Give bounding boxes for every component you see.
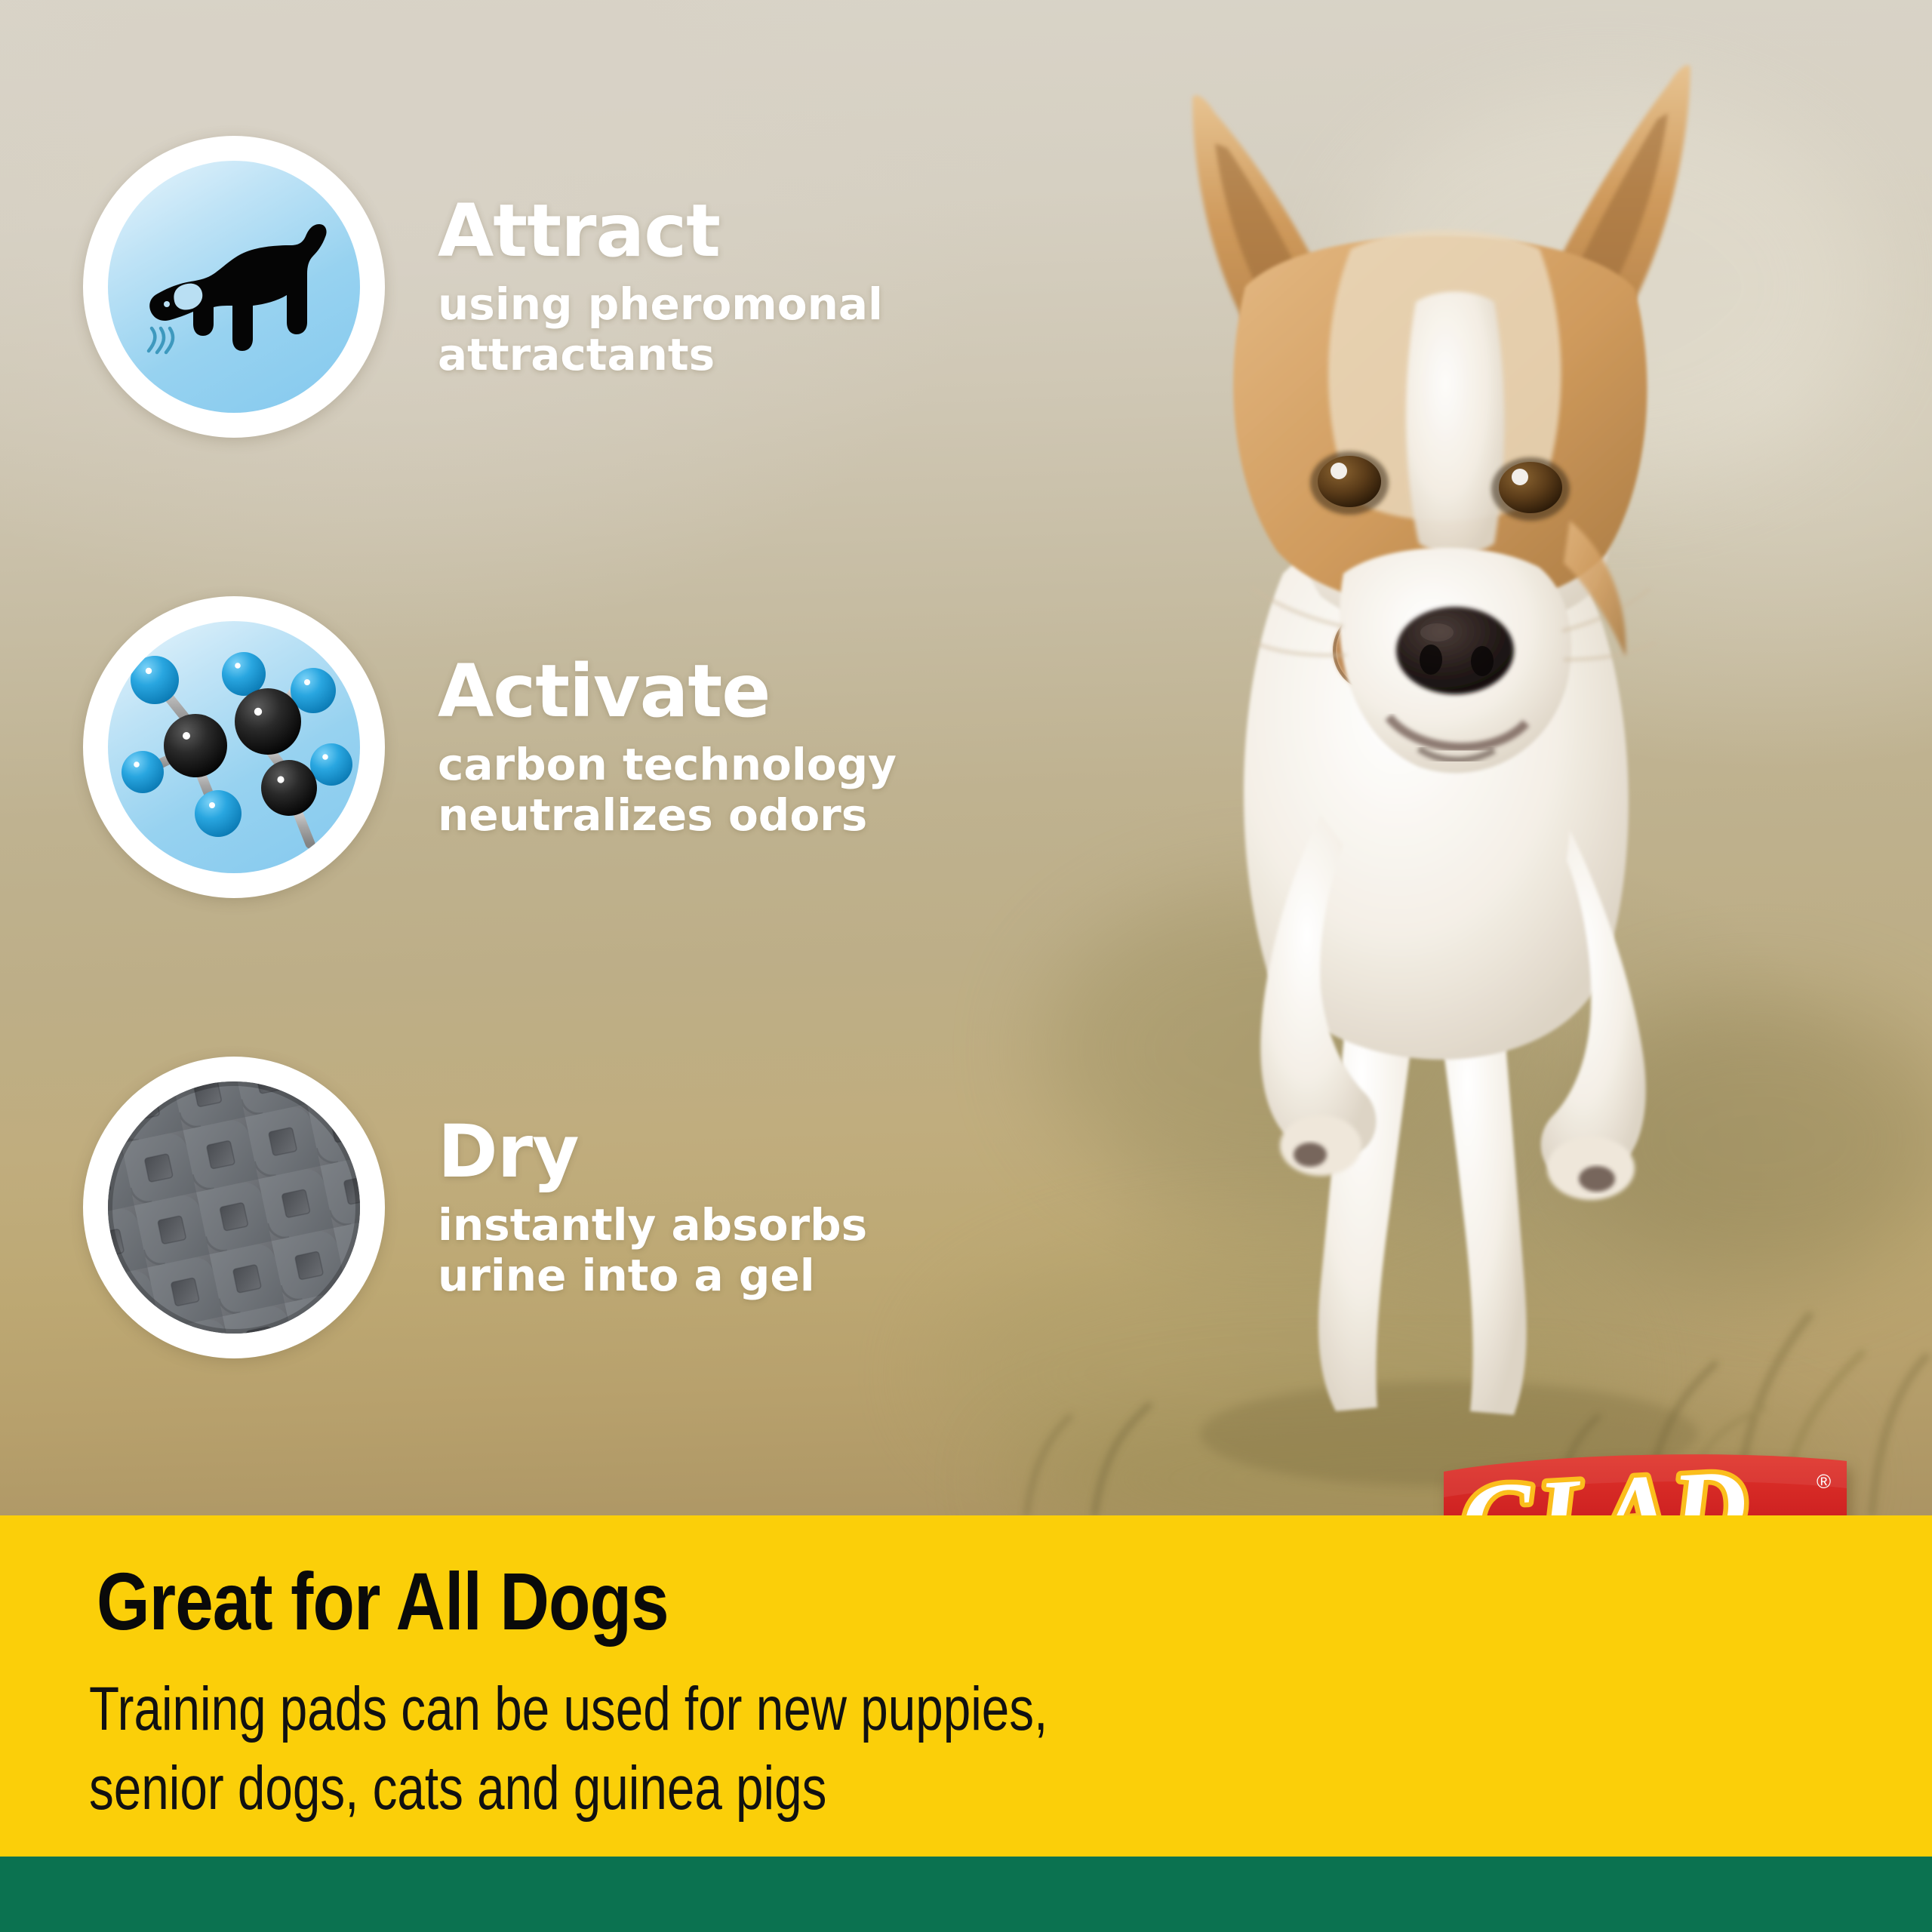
bottom-green-strip	[0, 1857, 1932, 1932]
feature-icon-ring	[83, 136, 385, 438]
feature-dry: Dry instantly absorbs urine into a gel	[83, 1057, 867, 1358]
dog-sniffing-icon	[108, 161, 360, 413]
feature-icon-ring	[83, 1057, 385, 1358]
carbon-molecule-icon	[108, 621, 360, 873]
feature-text-block: Attract using pheromonal attractants	[438, 136, 883, 381]
banner-headline: Great for All Dogs	[97, 1561, 669, 1642]
registered-mark-icon: ®	[1817, 1470, 1831, 1493]
feature-subtitle: carbon technology neutralizes odors	[438, 740, 897, 841]
banner-subtext: Training pads can be used for new puppie…	[89, 1670, 1048, 1829]
bottom-yellow-banner: Great for All Dogs Training pads can be …	[0, 1515, 1932, 1857]
feature-title: Activate	[438, 655, 897, 728]
quilted-pad-texture-icon	[108, 1081, 360, 1334]
feature-activate: Activate carbon technology neutralizes o…	[83, 596, 897, 898]
dog-photo	[966, 0, 1932, 1517]
feature-list: Attract using pheromonal attractants	[0, 0, 966, 1517]
running-terrier-illustration	[966, 0, 1932, 1517]
feature-subtitle: using pheromonal attractants	[438, 279, 883, 381]
feature-text-block: Dry instantly absorbs urine into a gel	[438, 1057, 867, 1302]
feature-title: Attract	[438, 195, 883, 267]
feature-subtitle: instantly absorbs urine into a gel	[438, 1200, 867, 1302]
feature-text-block: Activate carbon technology neutralizes o…	[438, 596, 897, 841]
feature-title: Dry	[438, 1115, 867, 1188]
feature-icon-ring	[83, 596, 385, 898]
feature-attract: Attract using pheromonal attractants	[83, 136, 883, 438]
